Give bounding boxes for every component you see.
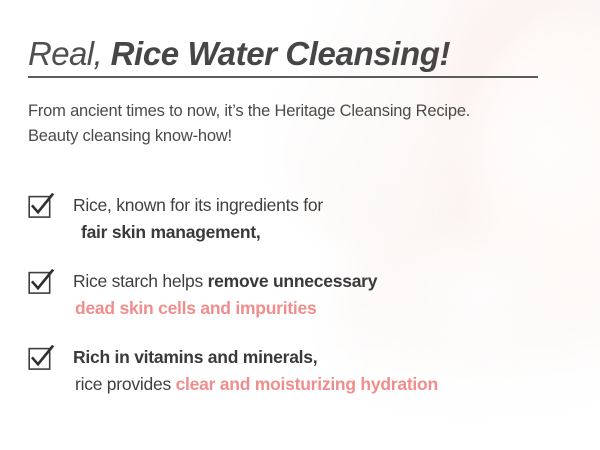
bullet-2-line-1-bold: remove unnecessary [208, 271, 378, 291]
bullet-3-line-2-accent: clear and moisturizing hydration [176, 374, 438, 394]
headline-underline [28, 76, 538, 78]
bullet-1-line-2: fair skin management, [73, 222, 261, 242]
list-item-text: Rice, known for its ingredients for fair… [73, 192, 323, 245]
subtitle-line-2: Beauty cleansing know-how! [28, 124, 568, 149]
benefit-list: Rice, known for its ingredients for fair… [28, 192, 584, 397]
bullet-2-line-1-plain: Rice starch helps [73, 271, 208, 291]
headline-lead: Real, [28, 35, 102, 72]
list-item: Rice starch helps remove unnecessary dea… [28, 268, 584, 321]
list-item: Rich in vitamins and minerals, rice prov… [28, 344, 584, 397]
bullet-3-line-2-plain: rice provides [75, 374, 176, 394]
checkbox-checked-icon [28, 193, 54, 219]
bullet-1-line-1: Rice, known for its ingredients for [73, 195, 323, 215]
list-item: Rice, known for its ingredients for fair… [28, 192, 584, 245]
checkbox-checked-icon [28, 269, 54, 295]
headline: Real, Rice Water Cleansing! [28, 33, 573, 75]
promo-banner: Real, Rice Water Cleansing! From ancient… [0, 0, 600, 450]
list-item-text: Rice starch helps remove unnecessary dea… [73, 268, 377, 321]
headline-strong: Rice Water Cleansing! [111, 35, 450, 72]
bullet-2-line-2-accent: dead skin cells and impurities [73, 298, 316, 318]
subtitle: From ancient times to now, it’s the Heri… [28, 99, 568, 149]
bullet-3-line-1-bold: Rich in vitamins and minerals, [73, 347, 317, 367]
list-item-text: Rich in vitamins and minerals, rice prov… [73, 344, 438, 397]
checkbox-checked-icon [28, 345, 54, 371]
subtitle-line-1: From ancient times to now, it’s the Heri… [28, 99, 568, 124]
